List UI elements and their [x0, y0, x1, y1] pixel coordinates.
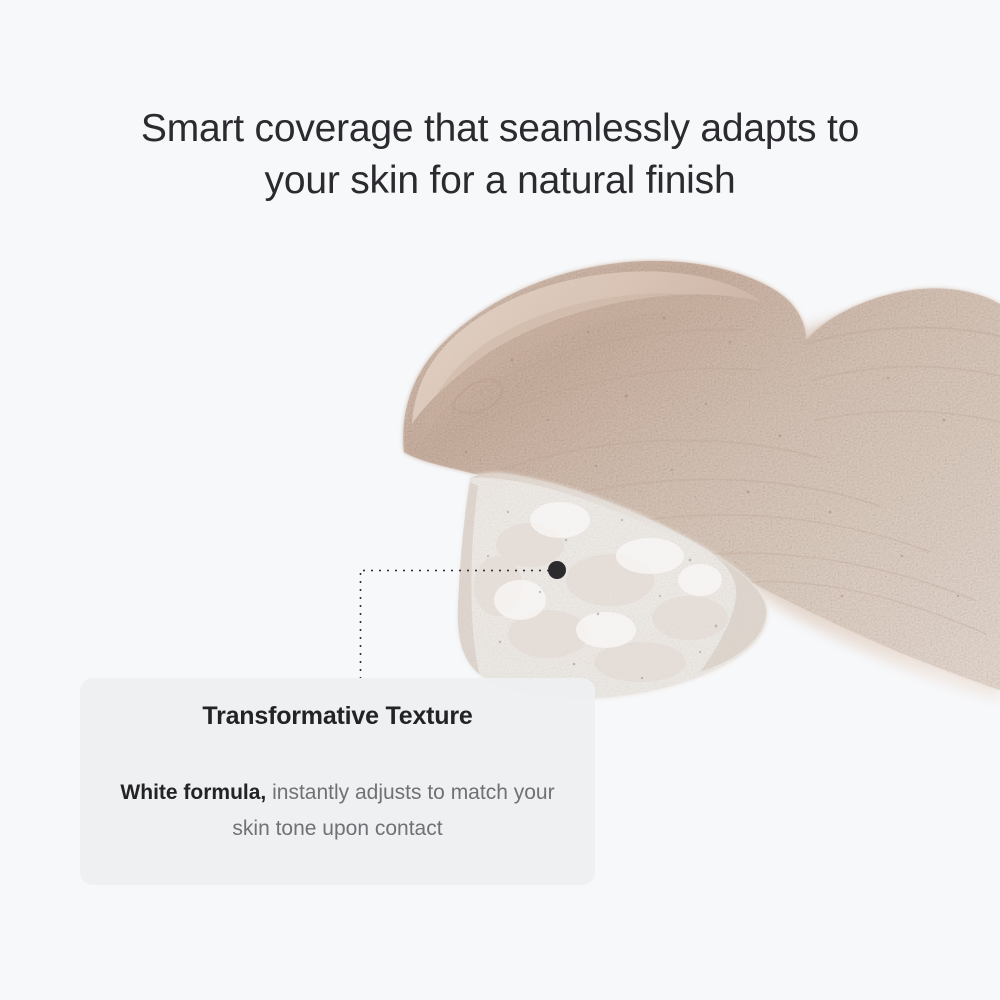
card-body: White formula, instantly adjusts to matc… — [104, 775, 571, 847]
texture-marker-dot[interactable] — [548, 561, 566, 579]
card-body-lead: White formula, — [120, 781, 266, 804]
callout-leader-vertical — [359, 570, 362, 678]
callout-leader-horizontal — [360, 569, 558, 572]
beige-foundation-swatch — [390, 250, 1000, 710]
product-feature-panel: Smart coverage that seamlessly adapts to… — [0, 0, 1000, 1000]
white-formula-swatch — [450, 465, 780, 710]
card-body-rest: instantly adjusts to match your skin ton… — [232, 781, 554, 840]
card-title: Transformative Texture — [80, 702, 595, 731]
texture-info-card: Transformative Texture White formula, in… — [80, 678, 595, 885]
page-headline: Smart coverage that seamlessly adapts to… — [0, 103, 1000, 207]
